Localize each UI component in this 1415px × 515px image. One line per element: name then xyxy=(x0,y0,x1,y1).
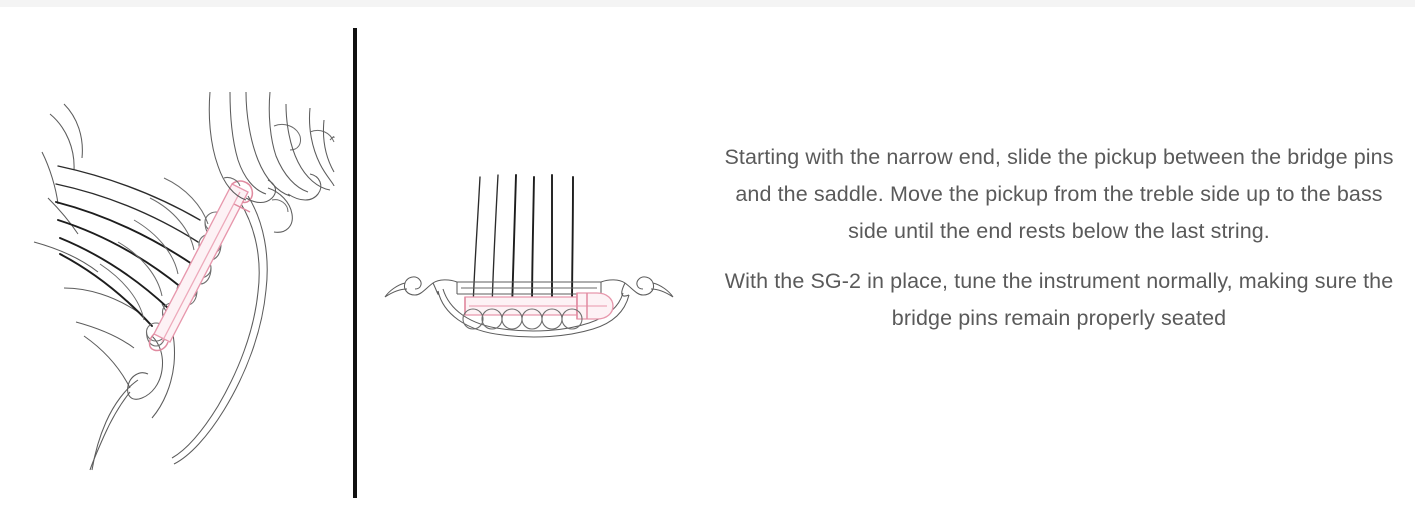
finger-ring xyxy=(286,104,334,190)
figure-bridge-front-view xyxy=(381,163,681,343)
guitar-body-contour xyxy=(34,104,138,388)
bridge-wing-scroll-right xyxy=(601,277,673,297)
instruction-page: Starting with the narrow end, slide the … xyxy=(0,0,1415,515)
bridge-saddle xyxy=(457,282,601,294)
guitar-strings xyxy=(473,175,573,309)
pickup xyxy=(150,181,253,350)
instruction-paragraph-1: Starting with the narrow end, slide the … xyxy=(714,139,1404,250)
pickup xyxy=(465,293,613,319)
bridge-wing-scroll-left xyxy=(385,277,457,297)
bridge-wing-scroll xyxy=(90,336,163,470)
instruction-text-panel: Starting with the narrow end, slide the … xyxy=(714,139,1404,337)
figure-hand-installing-pickup xyxy=(34,92,334,462)
instruction-paragraph-2: With the SG-2 in place, tune the instrum… xyxy=(714,263,1404,337)
vertical-divider xyxy=(353,28,357,498)
finger-pinky xyxy=(323,120,334,172)
top-edge-strip xyxy=(0,0,1415,7)
finger-index xyxy=(209,92,275,203)
